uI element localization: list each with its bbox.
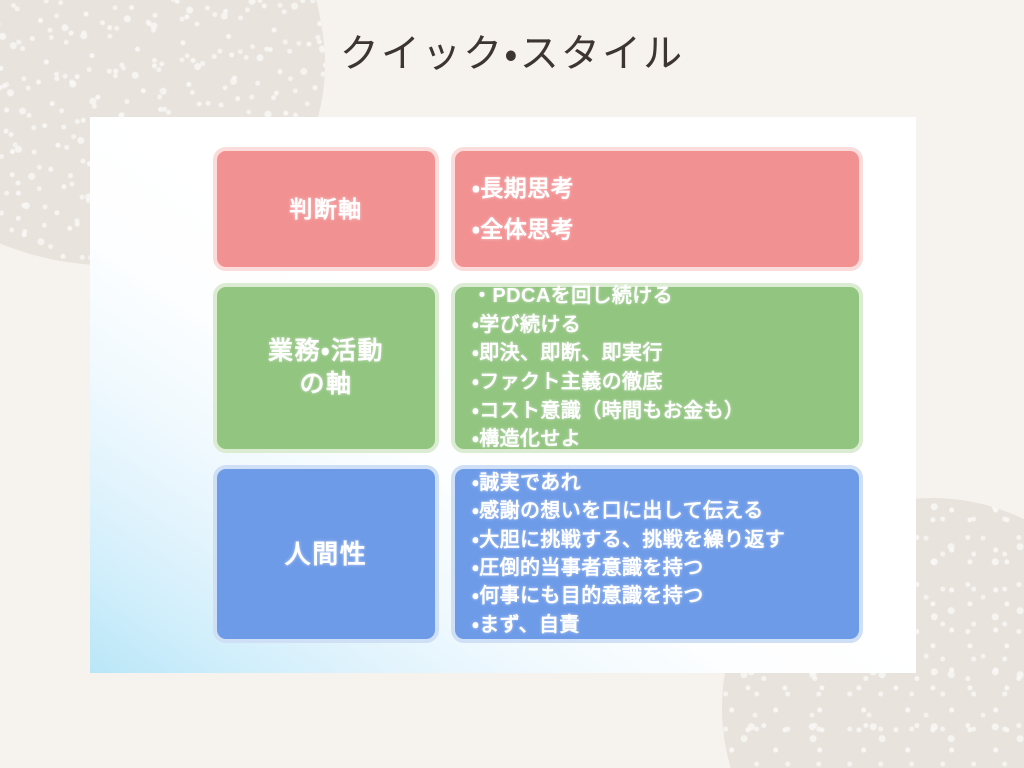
list-item: ・全体思考 xyxy=(472,209,859,250)
list-item: ・感謝の想いを口に出して伝える xyxy=(472,497,859,525)
matrix-row-label-judgement-axis[interactable]: 判断軸 xyxy=(213,147,439,271)
list-item: ・即決、即断、即実行 xyxy=(472,339,859,368)
matrix-row-label-text: 人間性 xyxy=(285,537,368,571)
style-matrix: 判断軸 ・長期思考 ・全体思考 業務・活動 の軸 ・PDCAを回し続ける ・学び… xyxy=(213,147,863,643)
matrix-row: 業務・活動 の軸 ・PDCAを回し続ける ・学び続ける ・即決、即断、即実行 ・… xyxy=(213,283,863,453)
matrix-row-label-work-activity-axis[interactable]: 業務・活動 の軸 xyxy=(213,283,439,453)
matrix-row-label-text: 業務・活動 の軸 xyxy=(268,335,384,401)
matrix-row: 人間性 ・誠実であれ ・感謝の想いを口に出して伝える ・大胆に挑戦する、挑戦を繰… xyxy=(213,465,863,643)
matrix-row-items-judgement-axis[interactable]: ・長期思考 ・全体思考 xyxy=(451,147,863,271)
page-title: クイック・スタイル xyxy=(0,23,1024,79)
matrix-row-label-text: 判断軸 xyxy=(289,194,362,224)
list-item: ・長期思考 xyxy=(472,168,859,209)
list-item: ・何事にも目的意識を持つ xyxy=(472,582,859,610)
list-item: ・学び続ける xyxy=(472,311,859,340)
matrix-row-items-humanity[interactable]: ・誠実であれ ・感謝の想いを口に出して伝える ・大胆に挑戦する、挑戦を繰り返す … xyxy=(451,465,863,643)
list-item: ・まず、自責 xyxy=(472,611,859,639)
list-item: ・構造化せよ xyxy=(472,425,859,454)
matrix-row-label-humanity[interactable]: 人間性 xyxy=(213,465,439,643)
list-item: ・コスト意識（時間もお金も） xyxy=(472,397,859,426)
list-item: ・誠実であれ xyxy=(472,469,859,497)
matrix-row-items-work-activity-axis[interactable]: ・PDCAを回し続ける ・学び続ける ・即決、即断、即実行 ・ファクト主義の徹底… xyxy=(451,283,863,453)
matrix-row: 判断軸 ・長期思考 ・全体思考 xyxy=(213,147,863,271)
list-item: ・ファクト主義の徹底 xyxy=(472,368,859,397)
list-item: ・圧倒的当事者意識を持つ xyxy=(472,554,859,582)
list-item: ・大胆に挑戦する、挑戦を繰り返す xyxy=(472,526,859,554)
list-item: ・PDCAを回し続ける xyxy=(472,282,859,311)
content-card: 判断軸 ・長期思考 ・全体思考 業務・活動 の軸 ・PDCAを回し続ける ・学び… xyxy=(90,117,916,673)
